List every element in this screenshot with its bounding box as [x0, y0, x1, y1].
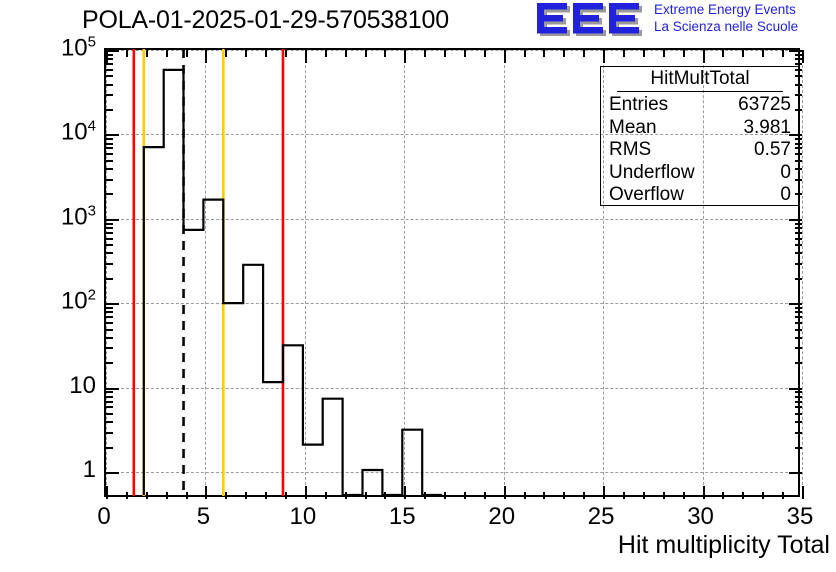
axis-tick	[643, 492, 645, 499]
axis-tick	[285, 50, 287, 57]
axis-tick	[782, 50, 784, 57]
axis-tick	[802, 486, 804, 499]
axis-tick	[795, 362, 802, 364]
axis-tick	[795, 54, 802, 56]
stats-row-label: RMS	[609, 139, 651, 161]
x-gridline	[106, 50, 107, 495]
axis-tick	[603, 50, 605, 63]
axis-tick	[106, 396, 113, 398]
axis-tick	[384, 50, 386, 57]
eee-logo-line1: Extreme Energy Events	[654, 2, 798, 19]
y-tick-label: 105	[61, 34, 96, 63]
axis-tick	[106, 143, 113, 145]
axis-tick	[504, 50, 506, 63]
y-tick-label: 103	[61, 202, 96, 231]
stats-row: RMS0.57	[609, 139, 791, 161]
axis-tick	[484, 492, 486, 499]
axis-tick	[365, 50, 367, 57]
x-tick-label: 20	[488, 503, 515, 531]
axis-tick	[106, 109, 113, 111]
axis-tick	[795, 278, 802, 280]
axis-tick	[464, 50, 466, 57]
stats-row-value: 0.57	[754, 139, 791, 161]
axis-tick	[106, 472, 119, 474]
axis-tick	[106, 50, 108, 63]
axis-tick	[146, 492, 148, 499]
axis-tick	[106, 413, 113, 415]
axis-tick	[106, 263, 113, 265]
axis-tick	[225, 50, 227, 57]
axis-tick	[106, 244, 113, 246]
axis-tick	[186, 492, 188, 499]
y-gridline	[106, 388, 798, 389]
eee-logo-bar	[573, 3, 580, 34]
axis-tick	[126, 50, 128, 57]
axis-tick	[106, 153, 113, 155]
axis-tick	[106, 486, 108, 499]
axis-tick	[663, 492, 665, 499]
axis-tick	[106, 362, 113, 364]
axis-tick	[106, 84, 113, 86]
y-gridline	[106, 219, 798, 220]
y-tick-label: 1	[83, 456, 96, 484]
axis-tick	[795, 244, 802, 246]
stats-row: Mean3.981	[609, 117, 791, 139]
axis-tick	[795, 238, 802, 240]
axis-tick	[795, 406, 802, 408]
axis-tick	[404, 486, 406, 499]
axis-tick	[106, 406, 113, 408]
axis-tick	[106, 329, 113, 331]
axis-tick	[106, 69, 113, 71]
axis-tick	[795, 337, 802, 339]
x-axis-title: Hit multiplicity Total	[618, 531, 830, 560]
axis-tick	[325, 50, 327, 57]
axis-tick	[205, 50, 207, 63]
stats-row-label: Overflow	[609, 184, 684, 206]
axis-tick	[795, 307, 802, 309]
axis-tick	[106, 147, 113, 149]
axis-tick	[186, 50, 188, 57]
x-gridline	[404, 50, 405, 495]
page-title: POLA-01-2025-01-29-570538100	[82, 6, 449, 35]
axis-tick	[424, 492, 426, 499]
axis-tick	[683, 50, 685, 57]
stats-row-value: 0	[780, 162, 791, 184]
axis-tick	[795, 421, 802, 423]
axis-tick	[802, 50, 804, 63]
x-gridline	[802, 50, 803, 495]
axis-tick	[563, 492, 565, 499]
axis-tick	[484, 50, 486, 57]
axis-tick	[106, 168, 113, 170]
y-gridline	[106, 50, 798, 51]
axis-tick	[106, 388, 119, 390]
eee-logo-bar	[609, 3, 616, 34]
x-tick-label: 25	[588, 503, 615, 531]
axis-tick	[345, 492, 347, 499]
y-tick-label: 10	[69, 372, 96, 400]
axis-tick	[444, 50, 446, 57]
axis-tick	[106, 421, 113, 423]
axis-tick	[563, 50, 565, 57]
y-gridline	[106, 303, 798, 304]
axis-tick	[795, 447, 802, 449]
eee-logo: Extreme Energy Events La Scienza nelle S…	[536, 2, 834, 38]
axis-tick	[285, 492, 287, 499]
axis-tick	[603, 486, 605, 499]
axis-tick	[464, 492, 466, 499]
axis-tick	[789, 303, 802, 305]
root-canvas: POLA-01-2025-01-29-570538100 Extreme Ene…	[0, 0, 836, 572]
axis-tick	[795, 413, 802, 415]
axis-tick	[789, 50, 802, 52]
x-gridline	[504, 50, 505, 495]
axis-tick	[225, 492, 227, 499]
stats-row-value: 0	[780, 184, 791, 206]
eee-logo-bar	[537, 3, 544, 34]
axis-tick	[146, 50, 148, 57]
axis-tick	[543, 492, 545, 499]
axis-tick	[643, 50, 645, 57]
stats-row-value: 3.981	[743, 117, 791, 139]
axis-tick	[106, 134, 119, 136]
axis-tick	[795, 329, 802, 331]
x-tick-label: 35	[787, 503, 814, 531]
axis-tick	[504, 486, 506, 499]
axis-tick	[106, 219, 119, 221]
axis-tick	[106, 232, 113, 234]
axis-tick	[795, 232, 802, 234]
axis-tick	[106, 316, 113, 318]
axis-tick	[795, 223, 802, 225]
axis-tick	[106, 337, 113, 339]
axis-tick	[166, 50, 168, 57]
axis-tick	[106, 432, 113, 434]
axis-tick	[345, 50, 347, 57]
axis-tick	[424, 50, 426, 57]
y-tick-label: 102	[61, 287, 96, 316]
axis-tick	[722, 492, 724, 499]
axis-tick	[795, 311, 802, 313]
axis-tick	[106, 94, 113, 96]
axis-tick	[795, 227, 802, 229]
axis-tick	[795, 347, 802, 349]
axis-tick	[762, 492, 764, 499]
axis-tick	[106, 193, 113, 195]
axis-tick	[683, 492, 685, 499]
axis-tick	[106, 322, 113, 324]
axis-tick	[106, 227, 113, 229]
axis-tick	[245, 50, 247, 57]
axis-tick	[703, 50, 705, 63]
axis-tick	[106, 391, 113, 393]
stats-row-label: Mean	[609, 117, 657, 139]
stats-box: HitMultTotal Entries63725Mean3.981RMS0.5…	[600, 66, 800, 206]
axis-tick	[524, 50, 526, 57]
axis-tick	[106, 75, 113, 77]
axis-tick	[762, 50, 764, 57]
axis-tick	[205, 486, 207, 499]
axis-tick	[795, 316, 802, 318]
axis-tick	[305, 486, 307, 499]
x-tick-label: 0	[97, 503, 110, 531]
axis-tick	[543, 50, 545, 57]
stats-row: Overflow0	[609, 184, 791, 206]
x-gridline	[305, 50, 306, 495]
x-tick-label: 15	[389, 503, 416, 531]
stats-box-title: HitMultTotal	[617, 68, 783, 92]
axis-tick	[583, 492, 585, 499]
axis-tick	[106, 347, 113, 349]
axis-tick	[106, 252, 113, 254]
axis-tick	[325, 492, 327, 499]
axis-tick	[722, 50, 724, 57]
axis-tick	[583, 50, 585, 57]
y-tick-label: 104	[61, 118, 96, 147]
axis-tick	[623, 492, 625, 499]
axis-tick	[106, 447, 113, 449]
axis-tick	[524, 492, 526, 499]
eee-logo-mark	[536, 2, 646, 36]
axis-tick	[365, 492, 367, 499]
eee-logo-line2: La Scienza nelle Scuole	[654, 19, 798, 36]
axis-tick	[782, 492, 784, 499]
axis-tick	[106, 238, 113, 240]
axis-tick	[106, 179, 113, 181]
stats-row-value: 63725	[738, 94, 791, 116]
axis-tick	[305, 50, 307, 63]
axis-tick	[106, 223, 113, 225]
axis-tick	[703, 486, 705, 499]
axis-tick	[742, 492, 744, 499]
axis-tick	[265, 50, 267, 57]
axis-tick	[795, 396, 802, 398]
axis-tick	[663, 50, 665, 57]
axis-tick	[265, 492, 267, 499]
x-gridline	[205, 50, 206, 495]
axis-tick	[795, 58, 802, 60]
axis-tick	[795, 401, 802, 403]
x-tick-label: 10	[289, 503, 316, 531]
axis-tick	[789, 388, 802, 390]
axis-tick	[742, 50, 744, 57]
stats-row: Underflow0	[609, 162, 791, 184]
axis-tick	[444, 492, 446, 499]
axis-tick	[384, 492, 386, 499]
stats-row-label: Entries	[609, 94, 668, 116]
axis-tick	[106, 160, 113, 162]
axis-tick	[789, 219, 802, 221]
axis-tick	[166, 492, 168, 499]
axis-tick	[126, 492, 128, 499]
stats-row: Entries63725	[609, 94, 791, 116]
x-tick-label: 30	[687, 503, 714, 531]
axis-tick	[106, 278, 113, 280]
axis-tick	[795, 322, 802, 324]
axis-tick	[404, 50, 406, 63]
stats-row-label: Underflow	[609, 162, 695, 184]
axis-tick	[795, 63, 802, 65]
axis-tick	[106, 307, 113, 309]
axis-tick	[106, 311, 113, 313]
axis-tick	[106, 138, 113, 140]
eee-logo-text: Extreme Energy Events La Scienza nelle S…	[654, 2, 798, 35]
axis-tick	[795, 432, 802, 434]
axis-tick	[795, 391, 802, 393]
axis-tick	[106, 401, 113, 403]
axis-tick	[106, 63, 113, 65]
axis-tick	[623, 50, 625, 57]
axis-tick	[795, 252, 802, 254]
axis-tick	[795, 263, 802, 265]
y-gridline	[106, 472, 798, 473]
axis-tick	[106, 303, 119, 305]
axis-tick	[789, 472, 802, 474]
x-tick-label: 5	[197, 503, 210, 531]
axis-tick	[245, 492, 247, 499]
